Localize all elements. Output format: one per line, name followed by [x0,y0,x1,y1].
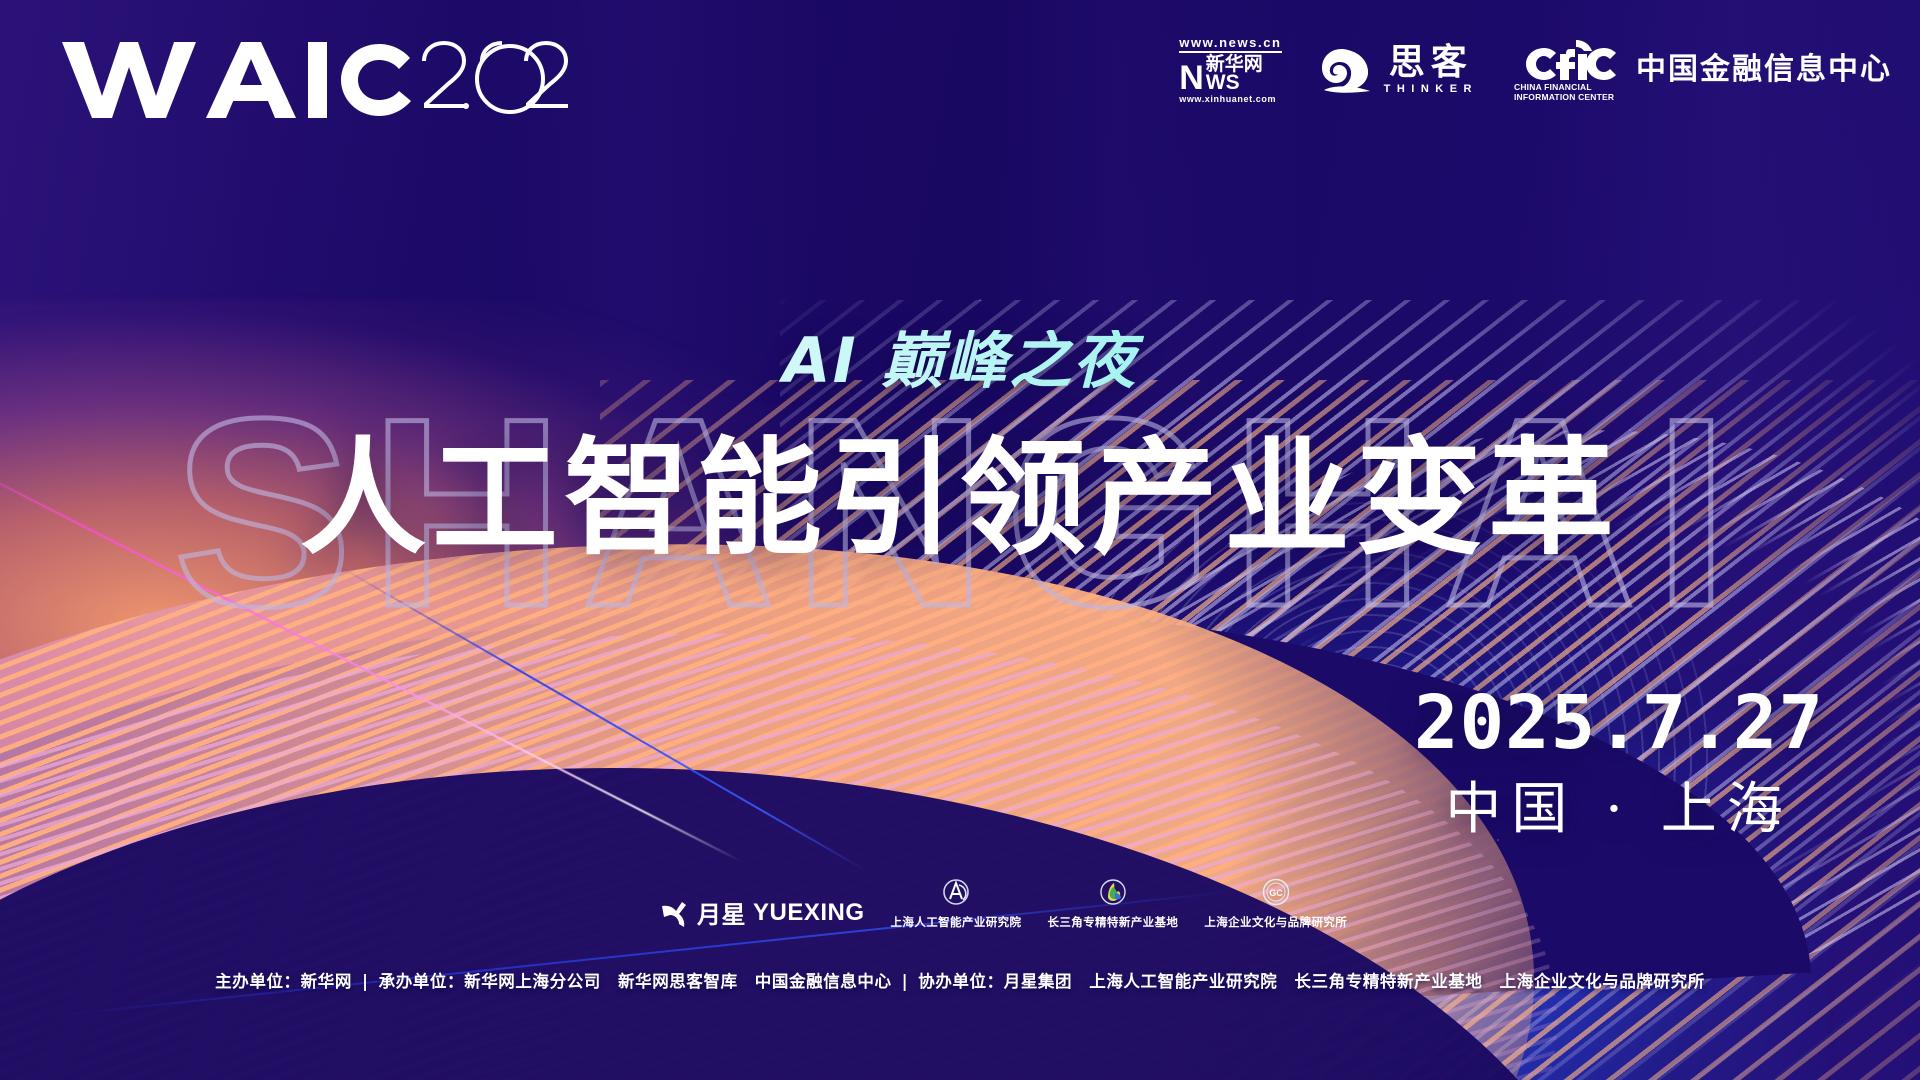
credits-separator-1: | [352,972,379,991]
credits-host-value: 新华网 [301,972,352,991]
event-location: 中国 · 上海 [1414,782,1824,838]
event-subtitle: AI 巅峰之夜 [0,330,1920,392]
thinker-cn: 思客 [1389,45,1473,81]
header: www.news.cn N 新华网 WS www.xinhuanet.com [0,0,1920,150]
svg-text:GC: GC [1269,888,1283,898]
cfic-logo: CHINA FINANCIAL INFORMATION CENTER 中国金融信… [1514,38,1892,103]
thinker-swirl-icon [1318,44,1374,96]
xinhuanet-url-bottom: www.xinhuanet.com [1179,94,1276,104]
sponsor-shanghai-ai-institute: 上海人工智能产业研究院 [891,877,1022,930]
credits-host-label: 主办单位： [215,972,301,991]
credits-separator-2: | [892,972,919,991]
cfic-mark-icon [1514,38,1622,82]
waic-2025-logo [58,34,578,120]
sponsor-shanghai-ai-institute-label: 上海人工智能产业研究院 [891,914,1022,930]
credits-coorganizer-value: 月星集团 上海人工智能产业研究院 长三角专精特新产业基地 上海企业文化与品牌研究… [1004,972,1705,991]
xinhuanet-url-top: www.news.cn [1179,36,1281,50]
credits-organizer-value: 新华网上海分公司 新华网思客智库 中国金融信息中心 [464,972,892,991]
cfic-cn: 中国金融信息中心 [1636,55,1892,85]
sponsor-brand-institute: GC 上海企业文化与品牌研究所 [1204,877,1347,930]
xinhuanet-rule [1179,51,1281,53]
xinhuanet-letter-n: N [1179,65,1203,93]
yuexing-star-icon [660,898,690,928]
cfic-en-line2: INFORMATION CENTER [1514,93,1614,103]
thinker-en: THINKER [1384,83,1478,95]
shanghai-ai-institute-icon [939,877,973,911]
sponsor-yuexing: 月星YUEXING [660,895,865,930]
poster-canvas: SHANGHAI [0,0,1920,1080]
credits-organizer-label: 承办单位： [379,972,465,991]
event-headline: 人工智能引领产业变革 [0,428,1920,569]
xinhuanet-logo: www.news.cn N 新华网 WS www.xinhuanet.com [1179,36,1281,104]
sponsor-brand-institute-label: 上海企业文化与品牌研究所 [1204,914,1347,930]
cfic-en-line1: CHINA FINANCIAL [1514,83,1592,93]
yrd-base-icon [1096,877,1130,911]
brand-institute-icon: GC [1259,877,1293,911]
xinhuanet-ws: WS [1206,74,1240,93]
date-location-block: 2025.7.27 中国 · 上海 [1414,686,1824,838]
credits-line: 主办单位：新华网|承办单位：新华网上海分公司 新华网思客智库 中国金融信息中心|… [0,968,1920,992]
event-date: 2025.7.27 [1414,686,1824,760]
thinker-logo: 思客 THINKER [1318,44,1478,96]
sponsor-yuexing-label: 月星 [697,895,746,930]
sponsor-yrd-base: 长三角专精特新产业基地 [1047,877,1178,930]
partner-logos: www.news.cn N 新华网 WS www.xinhuanet.com [1179,36,1892,104]
sponsor-yuexing-en: YUEXING [753,899,865,927]
sponsor-logo-strip: 月星YUEXING 上海人工智能产业研究院 长三角专精特新产业基地 [660,877,1347,930]
credits-coorganizer-label: 协办单位： [918,972,1004,991]
sponsor-yrd-base-label: 长三角专精特新产业基地 [1047,914,1178,930]
